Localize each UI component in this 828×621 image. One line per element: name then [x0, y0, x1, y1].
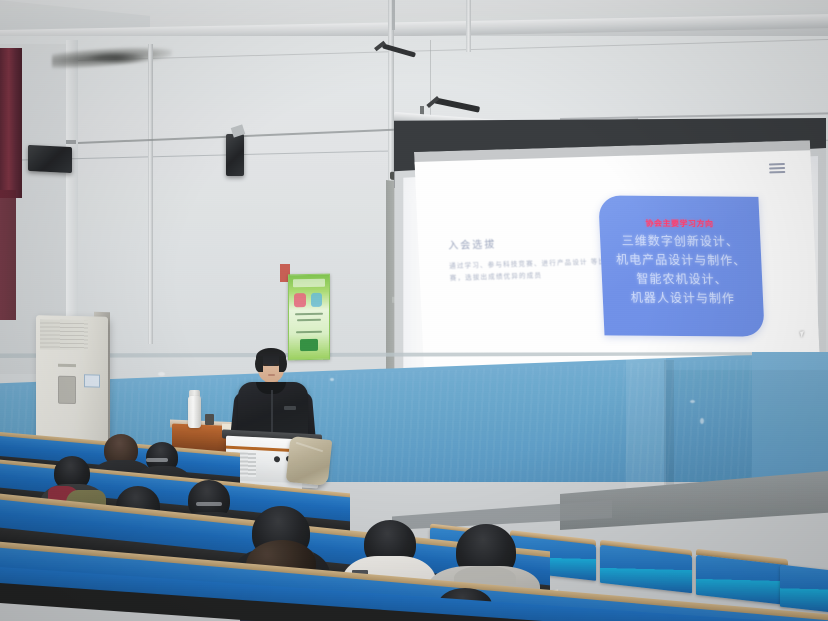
beige-towel [286, 436, 333, 486]
poster-text-line [297, 319, 321, 321]
slide-card-line-2: 机电产品设计与制作、 [601, 250, 762, 270]
green-wall-poster [288, 274, 330, 361]
slide-card-title: 协会主要学习方向 [599, 217, 760, 229]
wall-scuff [690, 400, 695, 403]
wall-conduit-pipe [148, 44, 153, 344]
water-damage-stain-core [88, 52, 146, 64]
dado-pillar [626, 356, 666, 488]
student-glasses [196, 502, 222, 506]
wall-scuff [700, 418, 704, 424]
poster-badge [300, 339, 318, 351]
presenter-hair-side-left [255, 356, 263, 372]
speaker-bracket-left [66, 140, 76, 144]
slide-highlight-card: 协会主要学习方向 三维数字创新设计、 机电产品设计与制作、 智能农机设计、 机器… [598, 195, 765, 336]
presenter-eye-left [263, 364, 268, 366]
student-glasses [146, 458, 168, 462]
slide-heading: 入会选拔 [448, 236, 497, 252]
poster-figure-left [294, 293, 306, 307]
lecture-hall-photo: 2 入会选拔 通过学习、参与科技竞赛、进行产品设计 等比赛，选拔出成绩优异的成员… [0, 0, 828, 621]
towel-fold [296, 442, 323, 453]
dark-red-curtain-lower [0, 190, 16, 320]
poster-text-line [295, 313, 323, 315]
presenter-jacket-logo [284, 406, 296, 410]
presenter-eye-right [274, 364, 279, 366]
hamburger-menu-icon[interactable] [769, 163, 785, 174]
presenter-mouth [268, 374, 275, 376]
empty-seat [780, 565, 828, 614]
wall-scuff [158, 372, 165, 376]
wall-speaker-left [28, 145, 72, 173]
dark-cup [205, 414, 214, 425]
console-knob[interactable] [274, 456, 280, 462]
poster-text-line [296, 331, 322, 333]
poster-logo [293, 279, 325, 288]
presenter-hair-side-right [279, 356, 287, 372]
slide-card-lines: 三维数字创新设计、 机电产品设计与制作、 智能农机设计、 机器人设计与制作 [600, 231, 764, 308]
dado-right-shade [666, 370, 828, 486]
air-conditioner-grille [40, 319, 88, 350]
wall-speaker-center [226, 134, 244, 176]
ceiling-rod [466, 0, 471, 52]
slide-card-line-1: 三维数字创新设计、 [600, 231, 761, 251]
air-conditioner-sticker [84, 374, 100, 387]
air-conditioner-display-panel [58, 376, 76, 404]
thermos-flask [188, 396, 201, 428]
wall-scuff [330, 378, 334, 381]
poster-figure-right [311, 293, 322, 307]
slide-card-line-3: 智能农机设计、 [602, 269, 763, 289]
ceiling-pipe-top [392, 0, 395, 30]
air-conditioner-logo [58, 364, 76, 367]
slide-card-line-4: 机器人设计与制作 [602, 288, 763, 308]
slide-body-text: 通过学习、参与科技竞赛、进行产品设计 等比赛，选拔出成绩优异的成员 [449, 256, 620, 285]
dark-red-curtain [0, 48, 22, 198]
